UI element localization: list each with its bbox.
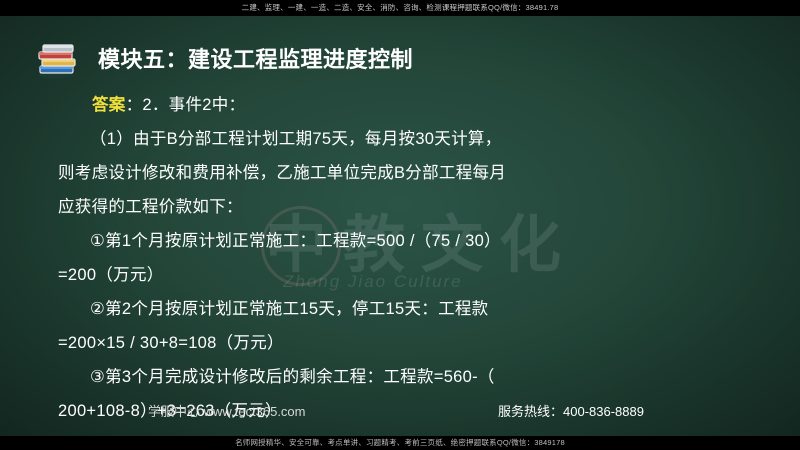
- bottom-banner-text: 名师网授精华、安全可靠、考点单讲、习题精考、考前三页纸、绝密押题联系QQ/微信：…: [0, 436, 800, 450]
- footer-service-center: 学服中心 www.tect365.com: [148, 401, 306, 420]
- answer-head: ：2．事件2中：: [126, 96, 246, 114]
- footer-hotline: 服务热线：400-836-8889: [498, 401, 644, 420]
- slide-body: 中教文化 Zhong Jiao Culture: [0, 16, 800, 436]
- top-banner-text: 二建、监理、一建、一造、二造、安全、消防、咨询、检测课程押题联系QQ/微信：38…: [0, 0, 800, 16]
- content-line: =200（万元）: [58, 258, 758, 292]
- content-line: ③第3个月完成设计修改后的剩余工程：工程款=560-（: [58, 360, 758, 394]
- answer-line: 答案：2．事件2中：: [58, 88, 758, 122]
- slide-screen: 二建、监理、一建、一造、二造、安全、消防、咨询、检测课程押题联系QQ/微信：38…: [0, 0, 800, 450]
- slide-header: 模块五：建设工程监理进度控制: [36, 38, 756, 86]
- content-line: 应获得的工程价款如下：: [58, 190, 758, 224]
- page-title: 模块五：建设工程监理进度控制: [98, 42, 413, 74]
- content-line: （1）由于B分部工程计划工期75天，每月按30天计算，: [58, 122, 758, 156]
- books-icon: [36, 42, 80, 82]
- content-line: =200×15 / 30+8=108（万元）: [58, 326, 758, 360]
- content-line: ①第1个月按原计划正常施工：工程款=500 /（75 / 30）: [58, 224, 758, 258]
- content-line: 则考虑设计修改和费用补偿，乙施工单位完成B分部工程每月: [58, 156, 758, 190]
- content-line: ②第2个月按原计划正常施工15天，停工15天：工程款: [58, 292, 758, 326]
- content-body: 答案：2．事件2中： （1）由于B分部工程计划工期75天，每月按30天计算， 则…: [58, 88, 758, 428]
- answer-label: 答案: [92, 96, 126, 114]
